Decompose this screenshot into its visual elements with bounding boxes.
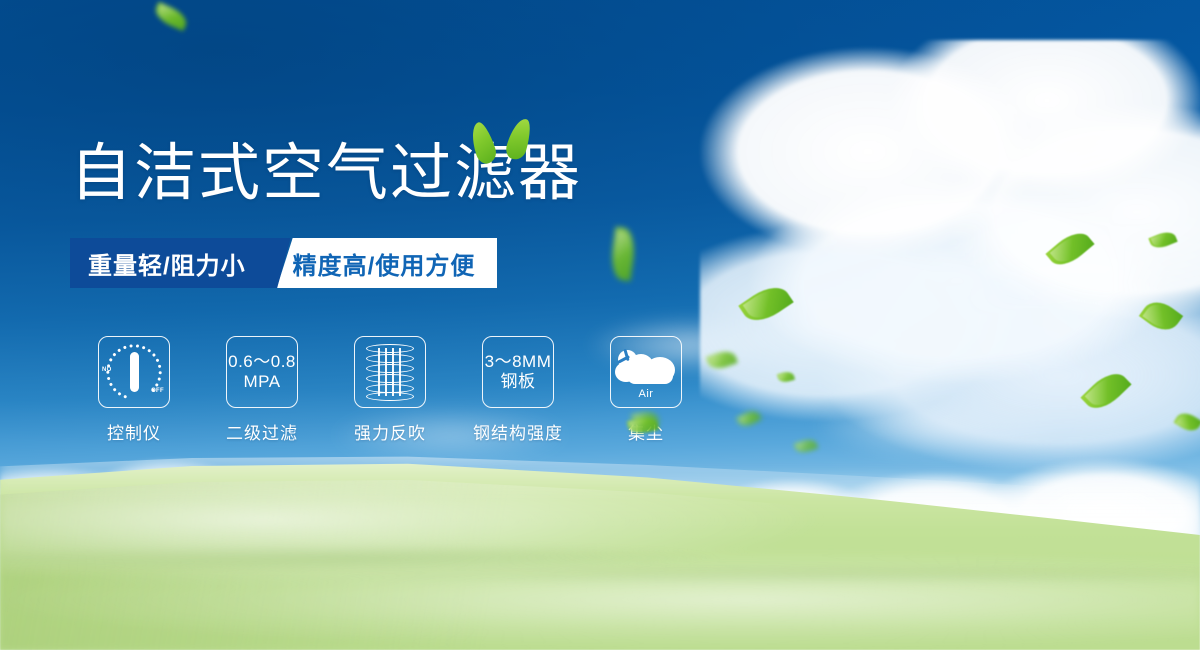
feature-icon-box <box>354 336 426 408</box>
steel-line-1: 3～8MM <box>485 352 552 372</box>
air-label: Air <box>615 388 677 400</box>
feature-icon-box: NO OFF <box>98 336 170 408</box>
cumulus-cloud-right <box>700 40 1200 470</box>
steel-plate-text-icon: 3～8MM 钢板 <box>485 352 552 392</box>
subtitle-right: 精度高/使用方便 <box>277 238 498 288</box>
feature-icon-box: Air <box>610 336 682 408</box>
pressure-line-1: 0.6～0.8 <box>228 352 296 372</box>
subtitle-left: 重量轻/阻力小 <box>70 238 266 288</box>
feature-label: 钢结构强度 <box>473 419 563 444</box>
gauge-label-off: OFF <box>151 388 164 394</box>
feature-label: 控制仪 <box>107 419 161 444</box>
feature-icon-box: 0.6～0.8 MPA <box>226 336 298 408</box>
feature-item-control[interactable]: NO OFF 控制仪 <box>70 336 198 444</box>
feature-label: 强力反吹 <box>354 419 426 444</box>
product-hero-banner: 自洁式空气过滤器 重量轻/阻力小 精度高/使用方便 <box>0 0 1200 650</box>
air-cloud-icon: Air <box>615 346 677 398</box>
feature-icon-box: 3～8MM 钢板 <box>482 336 554 408</box>
pressure-text-icon: 0.6～0.8 MPA <box>228 352 296 392</box>
filter-coil-icon <box>366 344 414 400</box>
feature-item-blowback[interactable]: 强力反吹 <box>326 336 454 444</box>
feature-list: NO OFF 控制仪 0.6～0.8 MPA 二级过滤 <box>70 336 710 444</box>
feature-item-steel[interactable]: 3～8MM 钢板 钢结构强度 <box>454 336 582 444</box>
gauge-dial-icon: NO OFF <box>103 343 165 401</box>
gauge-label-no: NO <box>102 367 112 373</box>
steel-line-2: 钢板 <box>485 372 552 392</box>
feature-item-pressure[interactable]: 0.6～0.8 MPA 二级过滤 <box>198 336 326 444</box>
subtitle-bar: 重量轻/阻力小 精度高/使用方便 <box>70 238 497 288</box>
feature-label: 二级过滤 <box>226 419 298 444</box>
sprout-leaves-icon <box>469 108 539 170</box>
pressure-line-2: MPA <box>228 372 296 392</box>
